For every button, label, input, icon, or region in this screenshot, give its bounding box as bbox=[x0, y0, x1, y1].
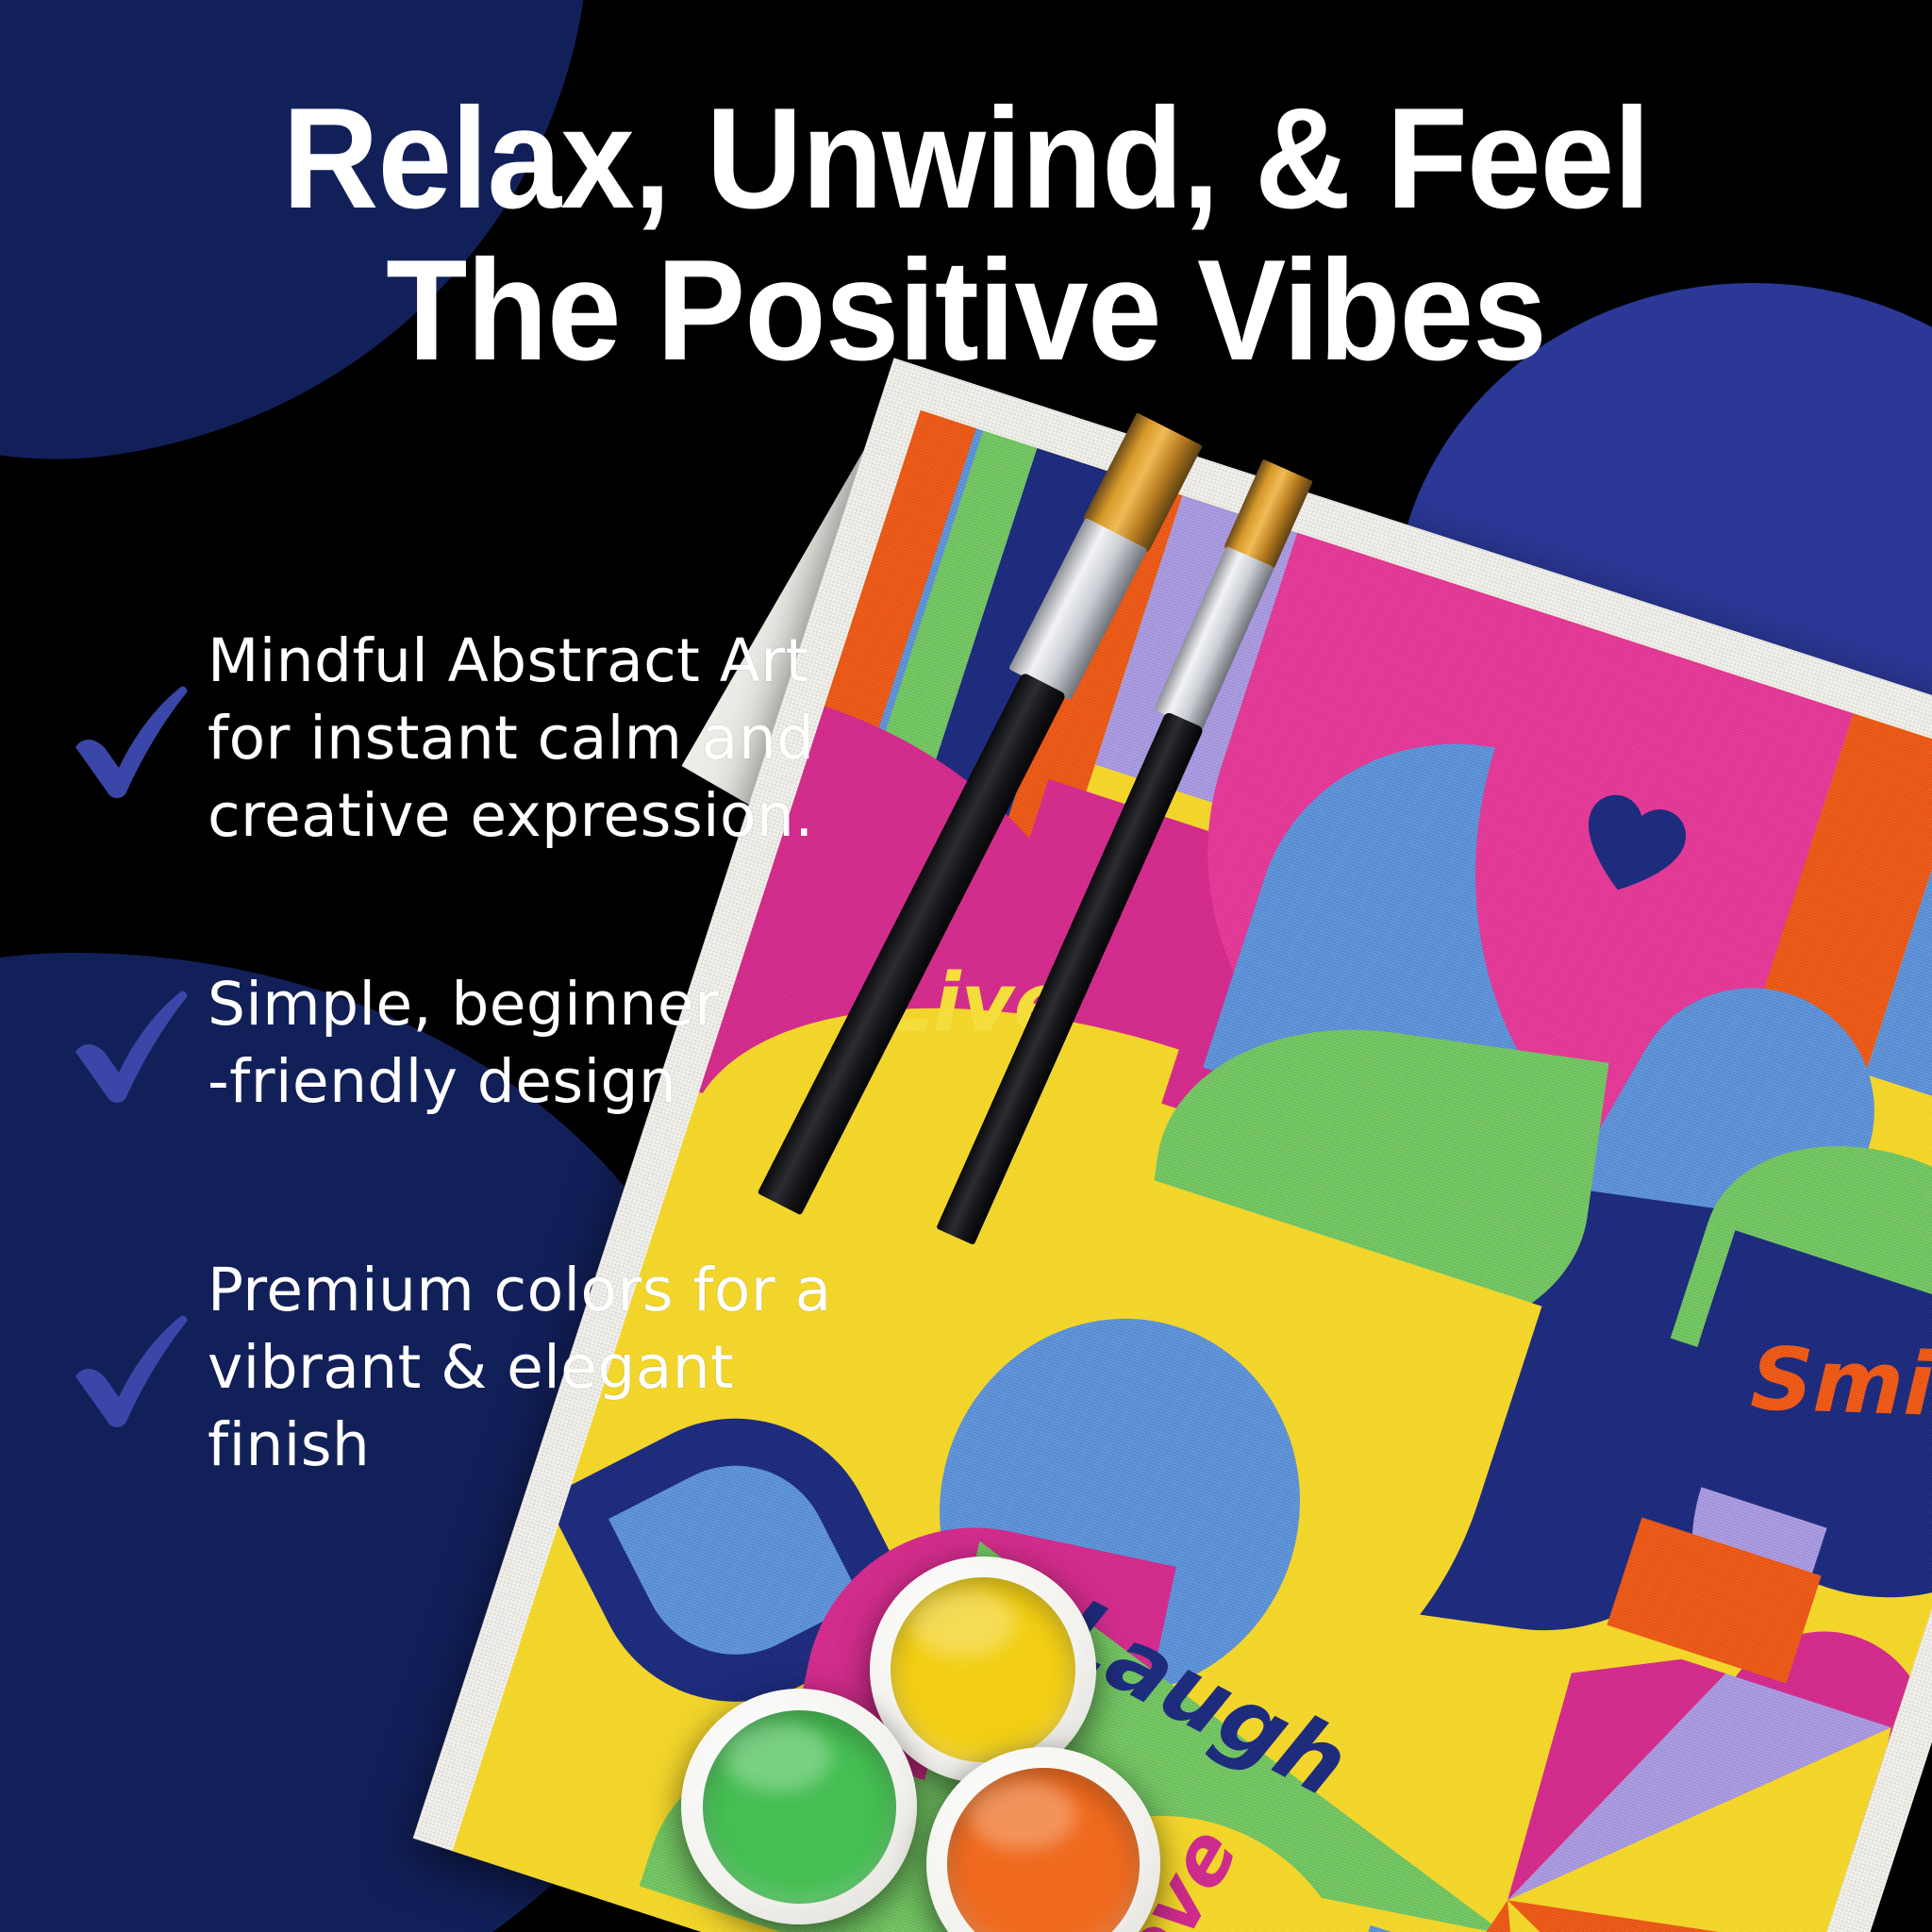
feature-item-2: Simple, beginner -friendly design bbox=[57, 966, 906, 1121]
check-icon bbox=[57, 973, 208, 1114]
art-word-smile: Smil bbox=[1749, 1328, 1932, 1437]
feature-text: Mindful Abstract Art for instant calm an… bbox=[208, 623, 815, 855]
feature-item-3: Premium colors for a vibrant & elegant f… bbox=[57, 1252, 906, 1484]
promo-image: Relax, Unwind, & Feel The Positive Vibes bbox=[0, 0, 1932, 1932]
pot-gloss bbox=[724, 1722, 832, 1792]
headline-line-1: Relax, Unwind, & Feel bbox=[68, 83, 1865, 235]
pot-gloss bbox=[969, 1780, 1076, 1850]
feature-item-1: Mindful Abstract Art for instant calm an… bbox=[57, 623, 906, 855]
check-icon bbox=[57, 668, 208, 809]
feature-list: Mindful Abstract Art for instant calm an… bbox=[57, 623, 906, 1484]
check-icon bbox=[57, 1297, 208, 1439]
feature-text: Premium colors for a vibrant & elegant f… bbox=[208, 1252, 906, 1484]
headline-line-2: The Positive Vibes bbox=[68, 235, 1865, 387]
page-title: Relax, Unwind, & Feel The Positive Vibes bbox=[68, 83, 1865, 387]
feature-text: Simple, beginner -friendly design bbox=[208, 966, 719, 1121]
pot-gloss bbox=[910, 1589, 1014, 1657]
green-paint-pot bbox=[681, 1689, 917, 1924]
